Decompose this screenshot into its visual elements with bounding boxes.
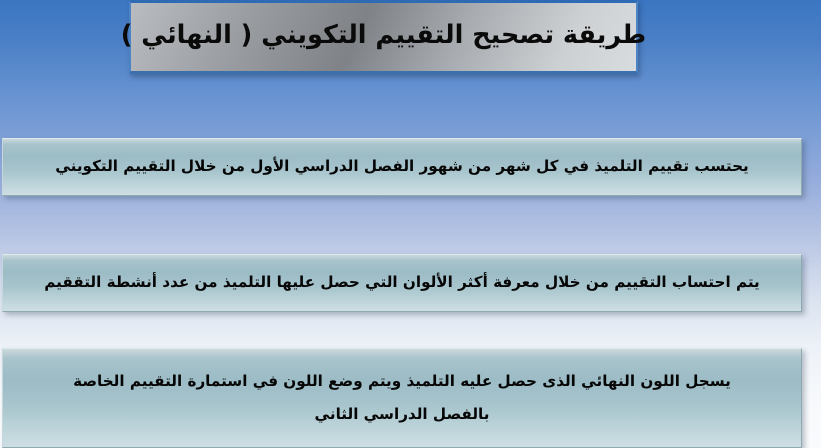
statement-text-3-line-1: يسجل اللون النهائي الذى حصل عليه التلميذ…: [73, 370, 731, 394]
statement-bar-3: يسجل اللون النهائي الذى حصل عليه التلميذ…: [2, 348, 802, 448]
statement-text-2: يتم احتساب التقييم من خلال معرفة أكثر ال…: [44, 271, 760, 295]
statement-bar-2: يتم احتساب التقييم من خلال معرفة أكثر ال…: [2, 254, 802, 312]
slide-canvas: طريقة تصحيح التقييم التكويني ( النهائي )…: [0, 0, 821, 448]
slide-title-box: طريقة تصحيح التقييم التكويني ( النهائي ): [129, 0, 638, 74]
statement-text-3: يسجل اللون النهائي الذى حصل عليه التلميذ…: [73, 370, 731, 426]
page-title: طريقة تصحيح التقييم التكويني ( النهائي ): [121, 21, 646, 53]
statement-bar-1: يحتسب تقييم التلميذ في كل شهر من شهور ال…: [2, 138, 802, 196]
statement-text-3-line-2: بالفصل الدراسي الثاني: [73, 403, 731, 427]
statement-text-1: يحتسب تقييم التلميذ في كل شهر من شهور ال…: [55, 155, 748, 179]
